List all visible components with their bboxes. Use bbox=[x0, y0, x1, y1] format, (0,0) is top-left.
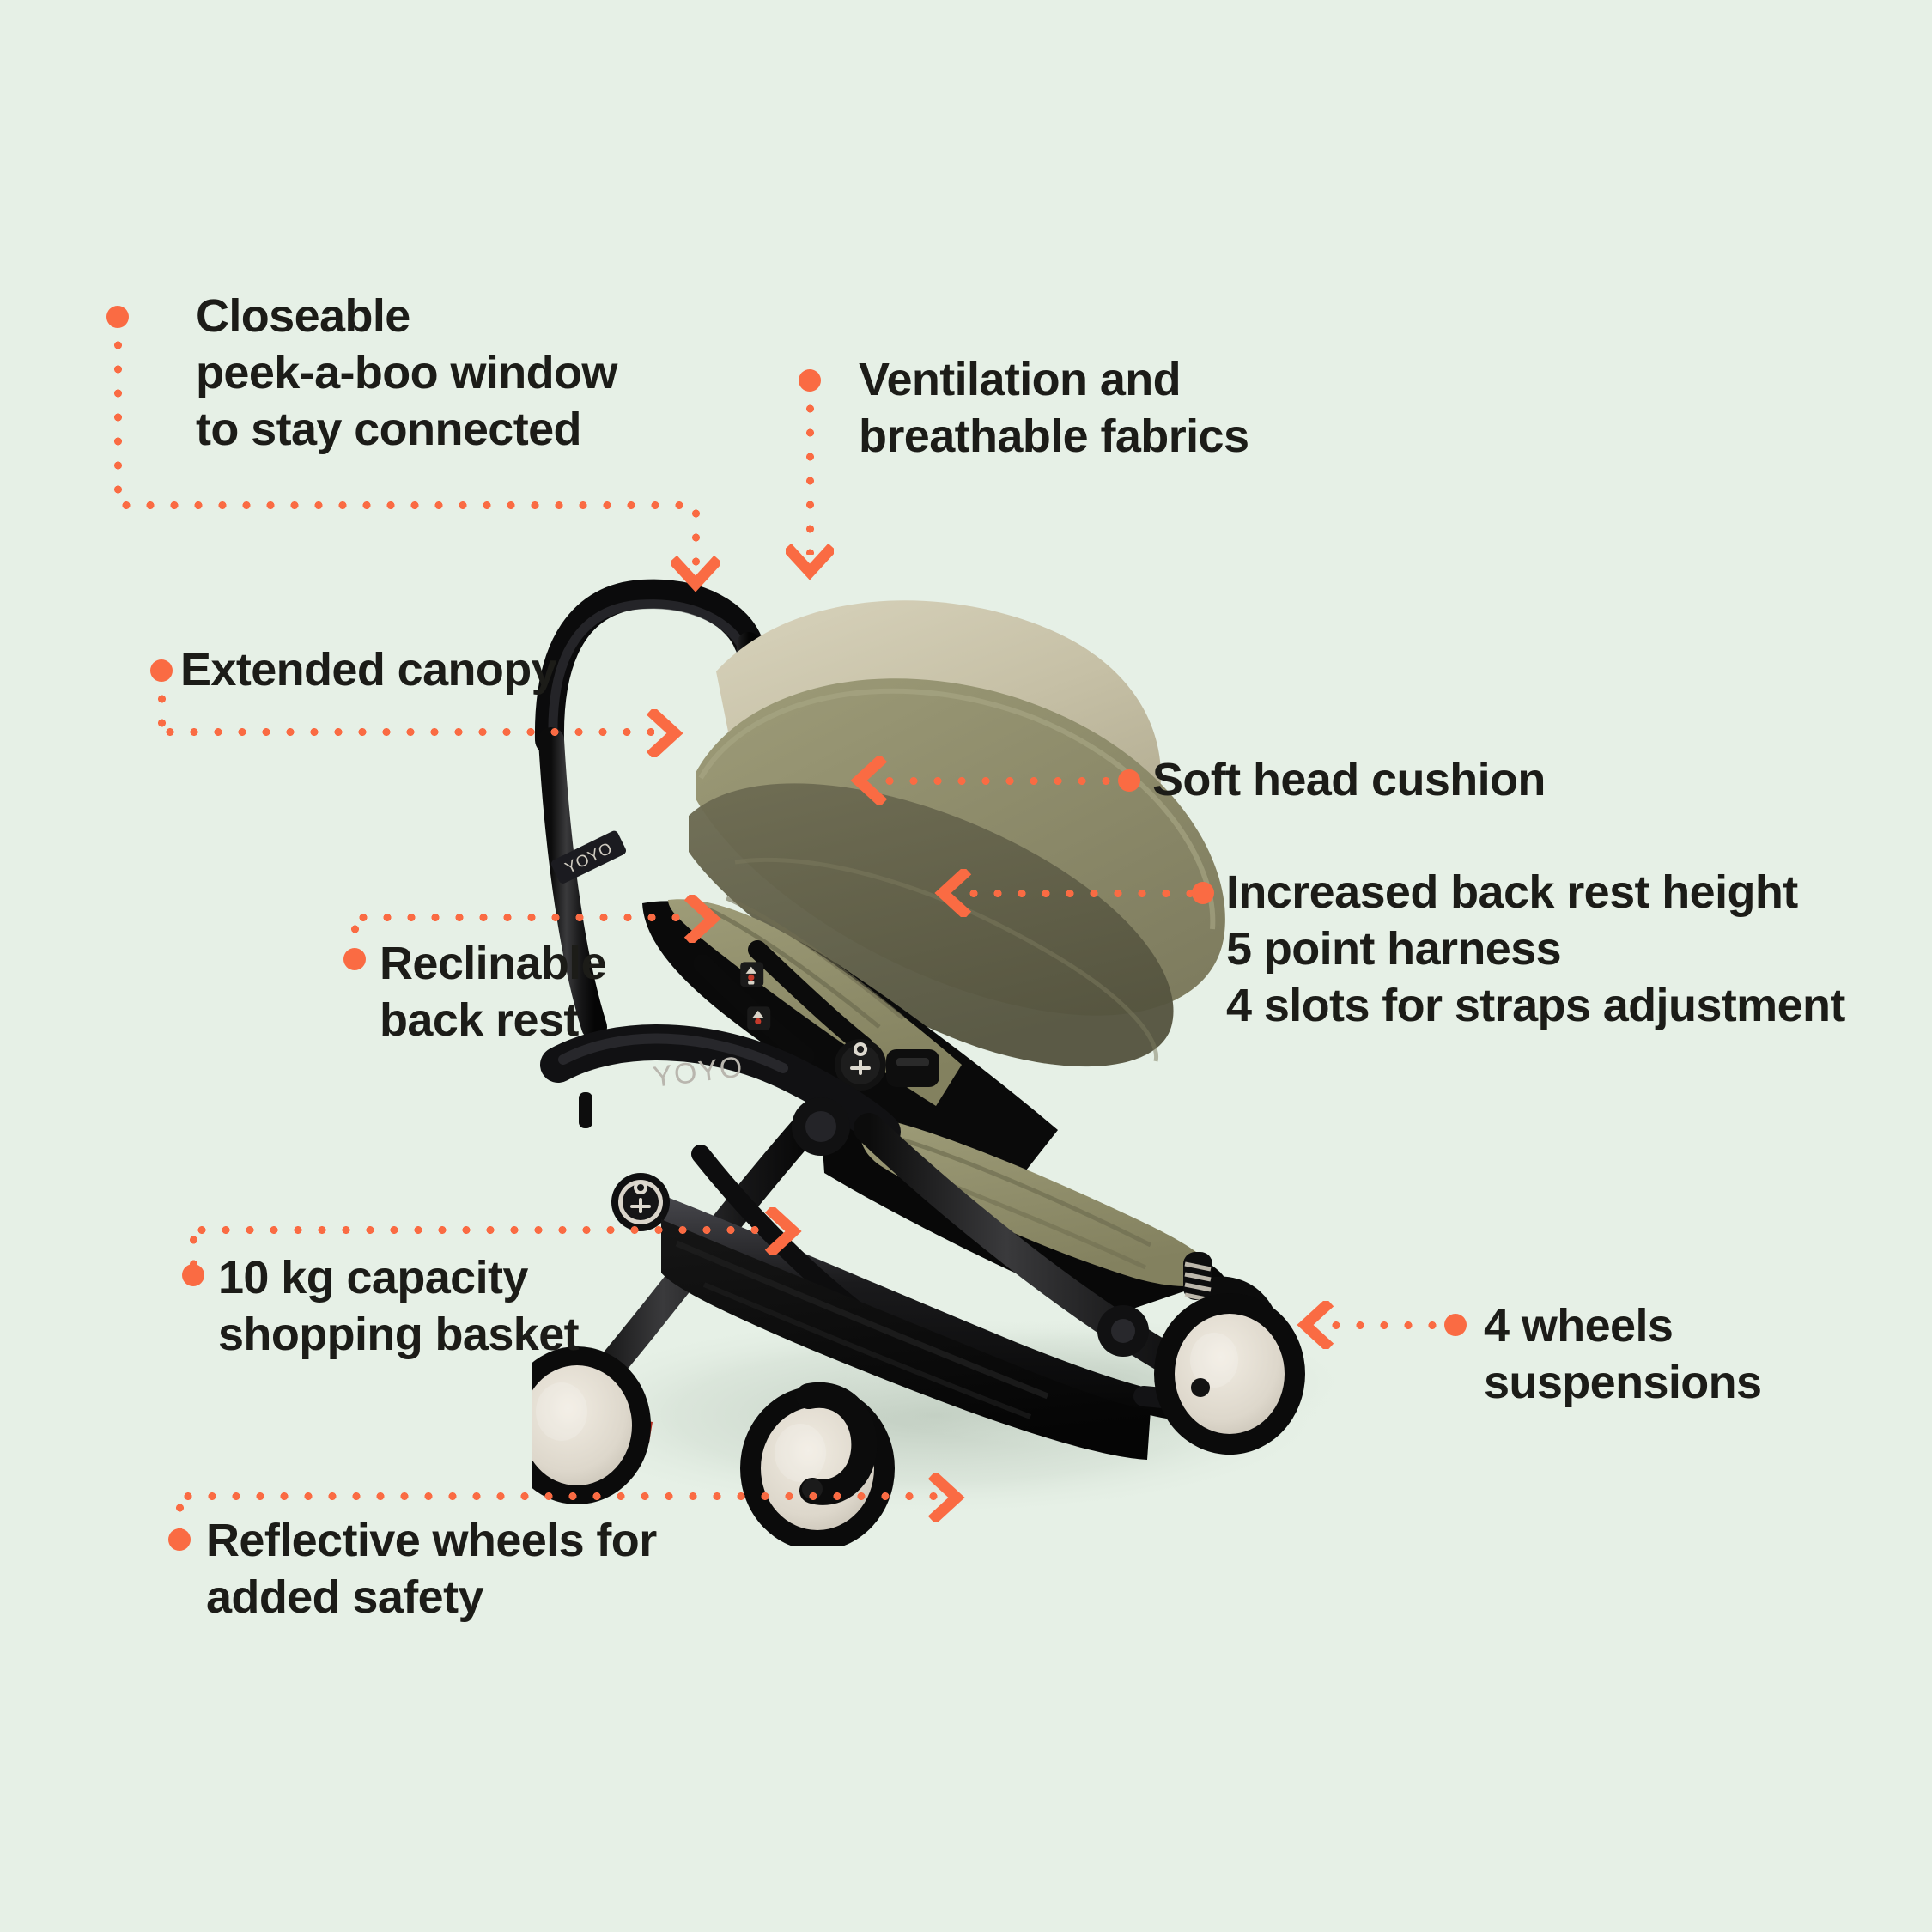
connector-ventilation-vertical bbox=[806, 397, 814, 555]
callout-dot-ventilation bbox=[799, 369, 821, 392]
connector-extended-canopy-horizontal bbox=[158, 728, 654, 736]
callout-label-wheels-suspensions: 4 wheels suspensions bbox=[1484, 1298, 1896, 1412]
connector-reclinable-back-rest-vertical bbox=[351, 917, 359, 953]
connector-back-rest-height-horizontal bbox=[962, 890, 1195, 897]
connector-extended-canopy-vertical bbox=[158, 687, 166, 733]
connector-reflective-wheels-vertical bbox=[176, 1496, 184, 1535]
callout-label-extended-canopy: Extended canopy bbox=[180, 642, 730, 699]
callout-label-reflective-wheels: Reflective wheels for added safety bbox=[206, 1513, 756, 1626]
callout-label-ventilation: Ventilation and breathable fabrics bbox=[859, 352, 1374, 465]
callout-dot-closeable-window bbox=[106, 306, 129, 328]
chevron-down-icon-closeable-window bbox=[671, 556, 720, 594]
chevron-left-icon-wheels-suspensions bbox=[1295, 1301, 1334, 1349]
connector-closeable-window-horizontal bbox=[114, 501, 698, 509]
connector-shopping-basket-vertical bbox=[190, 1228, 197, 1271]
chevron-right-icon-shopping-basket bbox=[764, 1207, 804, 1255]
chevron-right-icon-reflective-wheels bbox=[927, 1473, 967, 1522]
callout-dot-extended-canopy bbox=[150, 659, 173, 682]
chevron-right-icon-reclinable-back-rest bbox=[683, 895, 723, 943]
infographic-stage: YOYO bbox=[0, 0, 1932, 1932]
chevron-left-icon-back-rest-height bbox=[933, 869, 972, 917]
callout-label-soft-head-cushion: Soft head cushion bbox=[1152, 752, 1753, 809]
callout-label-reclinable-back-rest: Reclinable back rest bbox=[380, 936, 775, 1049]
chevron-right-icon-extended-canopy bbox=[646, 709, 685, 757]
callout-label-shopping-basket: 10 kg capacity shopping basket bbox=[218, 1250, 699, 1364]
connector-reclinable-back-rest-horizontal bbox=[351, 914, 695, 921]
connector-wheels-suspensions-horizontal bbox=[1324, 1321, 1449, 1329]
chevron-down-icon-ventilation bbox=[786, 544, 834, 582]
chevron-left-icon-soft-head-cushion bbox=[848, 756, 888, 805]
connector-soft-head-cushion-horizontal bbox=[878, 777, 1121, 785]
connector-closeable-window-vertical bbox=[114, 333, 122, 507]
callout-label-closeable-window: Closeable peek-a-boo window to stay conn… bbox=[196, 289, 728, 459]
connector-shopping-basket-horizontal bbox=[190, 1226, 774, 1234]
connector-reflective-wheels-horizontal bbox=[176, 1492, 939, 1500]
callout-label-back-rest-height: Increased back rest height 5 point harne… bbox=[1226, 865, 1913, 1035]
